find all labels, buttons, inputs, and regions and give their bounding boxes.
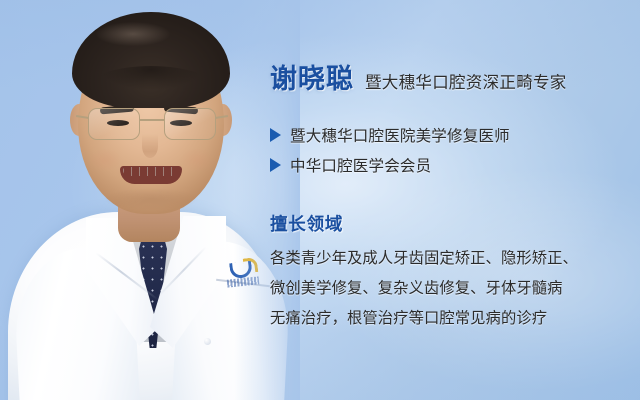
teeth bbox=[123, 167, 179, 176]
cheek-right bbox=[180, 148, 214, 172]
doctor-profile-banner: 谢晓聪 暨大穗华口腔资深正畸专家 暨大穗华口腔医院美学修复医师 中华口腔医学会会… bbox=[0, 0, 640, 400]
cheek-left bbox=[88, 148, 122, 172]
eyeglass-bridge bbox=[140, 119, 164, 121]
eyeglass-lens-right bbox=[164, 108, 216, 140]
credential-text: 暨大穗华口腔医院美学修复医师 bbox=[290, 124, 510, 146]
doctor-portrait bbox=[0, 0, 300, 400]
specialty-heading: 擅长领域 bbox=[270, 211, 343, 236]
credentials-list: 暨大穗华口腔医院美学修复医师 中华口腔医学会会员 bbox=[270, 122, 510, 182]
coat-button bbox=[204, 338, 211, 345]
clinic-logo-badge bbox=[226, 262, 260, 288]
credential-text: 中华口腔医学会会员 bbox=[290, 154, 431, 176]
list-item: 暨大穗华口腔医院美学修复医师 bbox=[270, 122, 510, 148]
clinic-logo-text bbox=[227, 276, 260, 287]
specialty-line: 微创美学修复、复杂义齿修复、牙体牙髓病 bbox=[270, 274, 638, 304]
triangle-bullet-icon bbox=[270, 158, 281, 172]
list-item: 中华口腔医学会会员 bbox=[270, 152, 510, 178]
doctor-title: 暨大穗华口腔资深正畸专家 bbox=[365, 69, 567, 93]
eyeglasses bbox=[88, 108, 216, 142]
triangle-bullet-icon bbox=[270, 128, 281, 142]
smiling-mouth bbox=[120, 166, 182, 184]
chin-shadow bbox=[104, 188, 198, 210]
hair-highlight bbox=[96, 22, 170, 46]
doctor-name: 谢晓聪 bbox=[270, 57, 354, 96]
specialty-description: 各类青少年及成人牙齿固定矫正、隐形矫正、 微创美学修复、复杂义齿修复、牙体牙髓病… bbox=[270, 244, 638, 334]
specialty-line: 无痛治疗，根管治疗等口腔常见病的诊疗 bbox=[270, 304, 638, 334]
doctor-info-panel: 谢晓聪 暨大穗华口腔资深正畸专家 暨大穗华口腔医院美学修复医师 中华口腔医学会会… bbox=[262, 0, 640, 400]
eyeglass-lens-left bbox=[88, 108, 140, 140]
specialty-line: 各类青少年及成人牙齿固定矫正、隐形矫正、 bbox=[270, 244, 638, 274]
doctor-name-row: 谢晓聪 暨大穗华口腔资深正畸专家 bbox=[270, 57, 567, 96]
